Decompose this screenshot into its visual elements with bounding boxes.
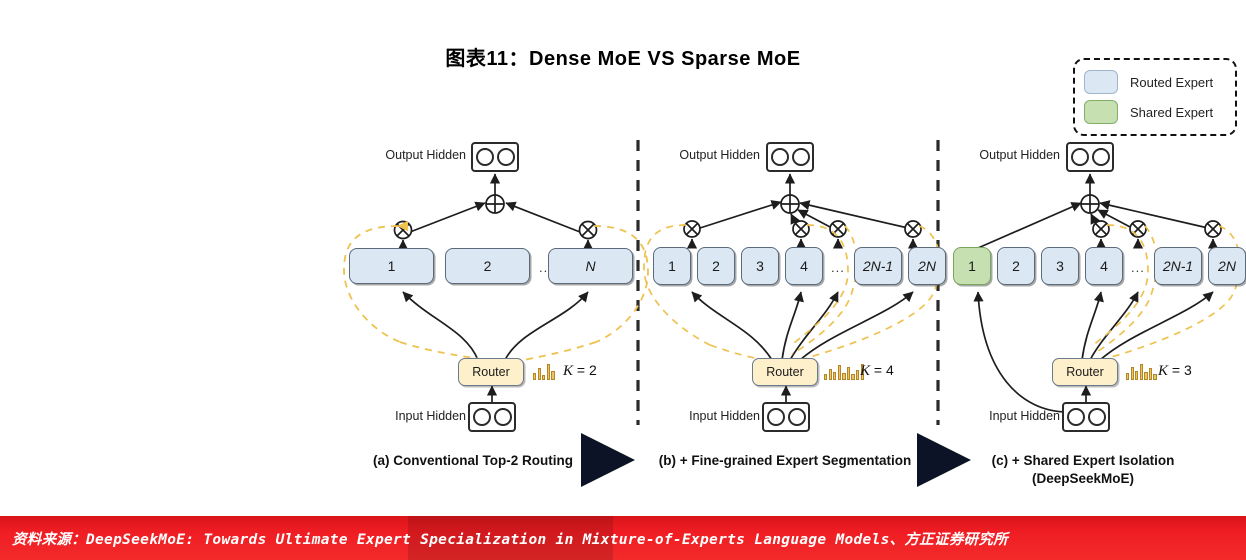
expert-box[interactable]: 1 [349,248,434,284]
output-hidden-token-c [1066,142,1114,172]
expert-box[interactable]: 2N [1208,247,1246,285]
expert-box[interactable]: 2N [908,247,946,285]
router-box-c[interactable]: Router [1052,358,1118,386]
k-value-a: K = 2 [563,362,597,380]
panel-caption-b: (b) + Fine-grained Expert Segmentation [640,452,930,470]
router-box-a[interactable]: Router [458,358,524,386]
expert-box[interactable]: 2 [997,247,1035,285]
expert-box[interactable]: 2N-1 [854,247,902,285]
panel-caption-a: (a) Conventional Top-2 Routing [355,452,591,470]
input-hidden-token-b [762,402,810,432]
input-hidden-label-a: Input Hidden [366,409,466,423]
input-hidden-label-c: Input Hidden [960,409,1060,423]
shared-expert-swatch-icon [1084,100,1118,124]
expert-box[interactable]: 3 [741,247,779,285]
panel-caption-c: (c) + Shared Expert Isolation [972,452,1194,470]
expert-ellipsis: ... [1131,260,1145,275]
input-hidden-token-a [468,402,516,432]
legend-item-shared: Shared Expert [1084,97,1226,127]
k-value-b: K = 4 [860,362,894,380]
expert-ellipsis: ... [831,260,845,275]
panel-caption-c-sub: (DeepSeekMoE) [972,470,1194,488]
input-hidden-label-b: Input Hidden [660,409,760,423]
expert-box[interactable]: 2N-1 [1154,247,1202,285]
histogram-icon-b [824,360,864,380]
output-hidden-label-a: Output Hidden [366,148,466,162]
histogram-icon-c [1126,360,1157,380]
expert-box[interactable]: 3 [1041,247,1079,285]
page-title: 图表11：Dense MoE VS Sparse MoE [0,42,1246,71]
source-footer-bar: 资料来源：DeepSeekMoE: Towards Ultimate Exper… [0,516,1246,560]
routed-expert-swatch-icon [1084,70,1118,94]
expert-box-shared[interactable]: 1 [953,247,991,285]
output-hidden-label-b: Output Hidden [660,148,760,162]
figure-root: 图表11：Dense MoE VS Sparse MoE Routed Expe… [0,0,1246,560]
input-hidden-token-c [1062,402,1110,432]
histogram-icon-a [533,360,555,380]
k-value-c: K = 3 [1158,362,1192,380]
expert-box[interactable]: 4 [785,247,823,285]
router-box-b[interactable]: Router [752,358,818,386]
expert-box[interactable]: 2 [697,247,735,285]
output-hidden-token-a [471,142,519,172]
expert-box[interactable]: N [548,248,633,284]
legend-item-routed: Routed Expert [1084,67,1226,97]
expert-box[interactable]: 2 [445,248,530,284]
output-hidden-label-c: Output Hidden [960,148,1060,162]
source-text: 资料来源：DeepSeekMoE: Towards Ultimate Exper… [0,528,1008,549]
output-hidden-token-b [766,142,814,172]
legend-item-label: Shared Expert [1130,105,1213,120]
expert-box[interactable]: 4 [1085,247,1123,285]
legend-item-label: Routed Expert [1130,75,1213,90]
expert-box[interactable]: 1 [653,247,691,285]
legend-box: Routed Expert Shared Expert [1073,58,1237,136]
